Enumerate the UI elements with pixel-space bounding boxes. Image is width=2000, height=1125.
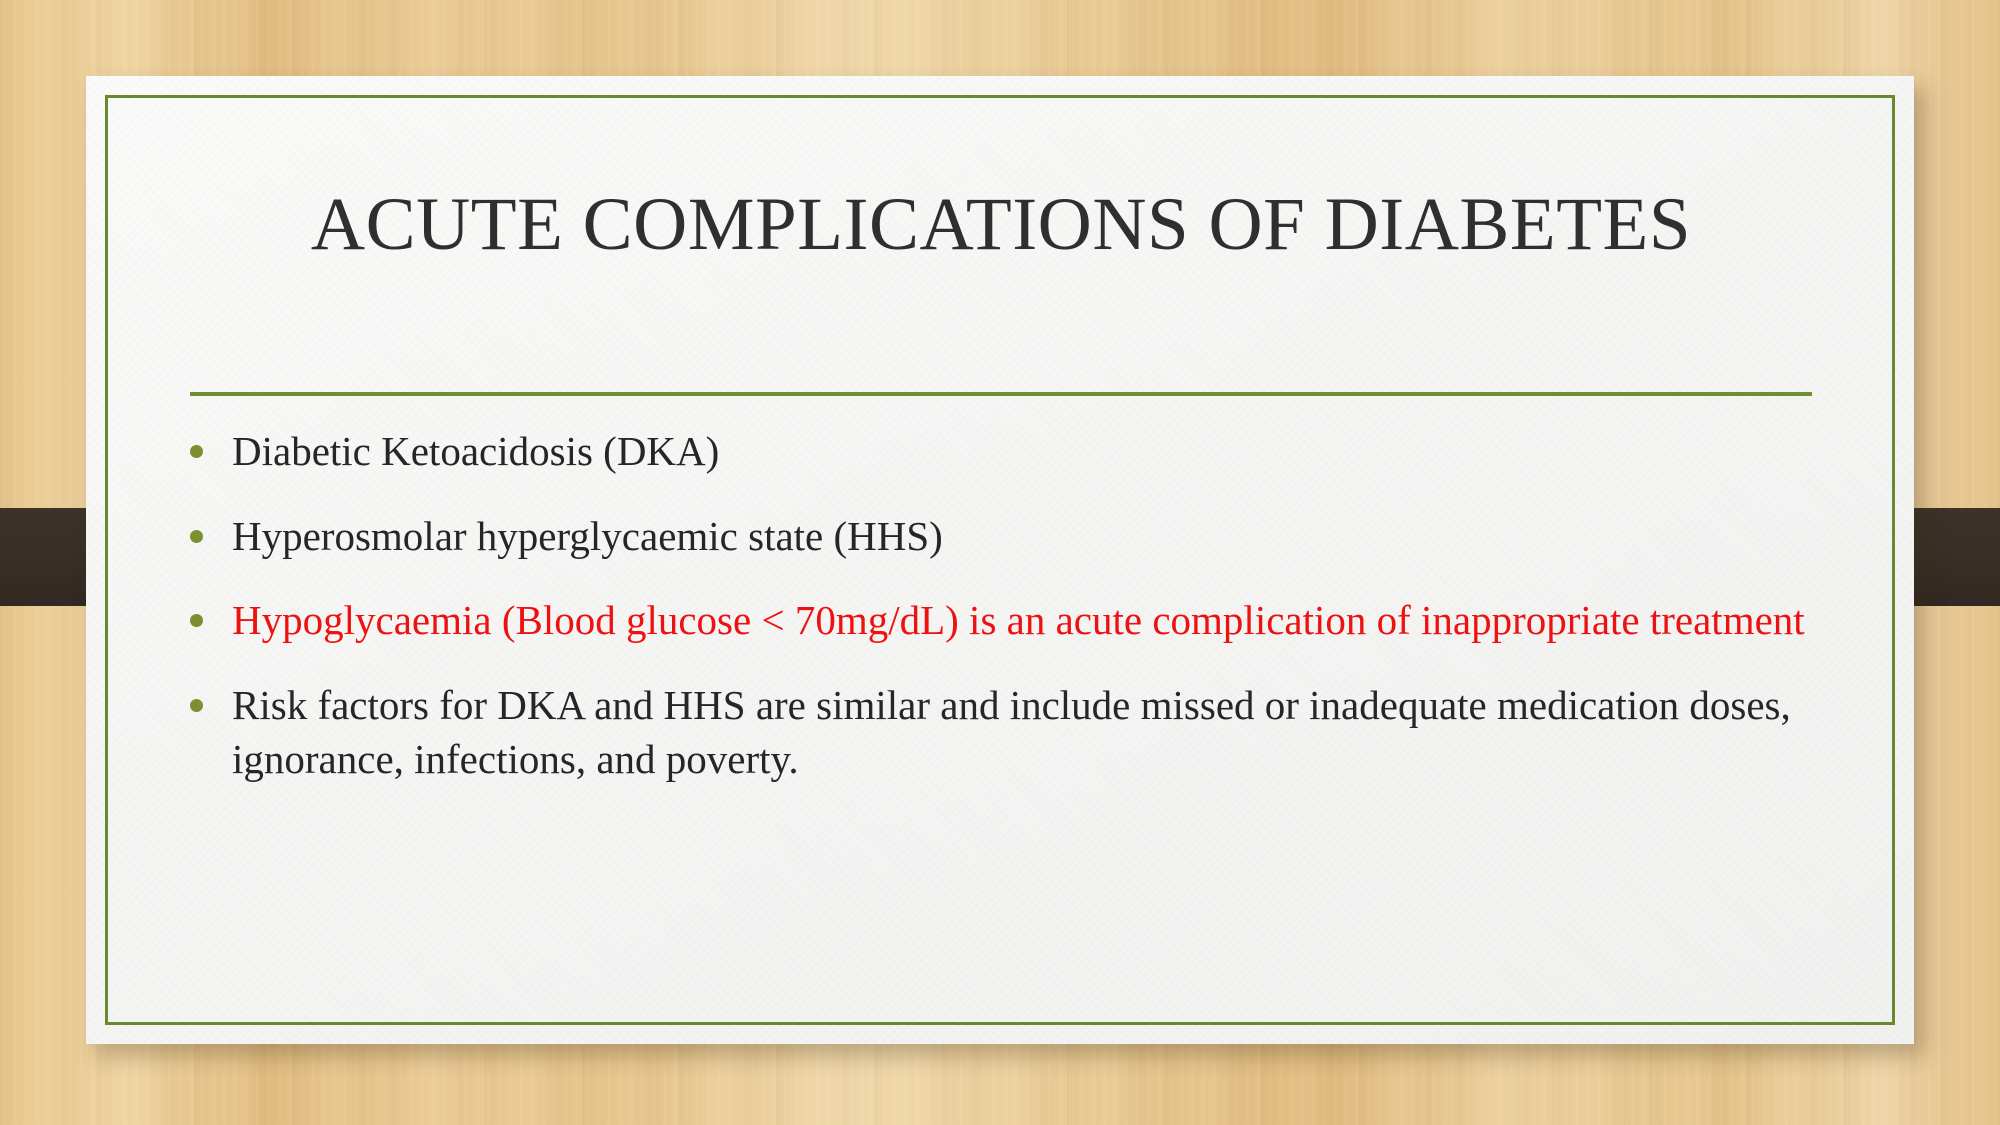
slide-card: ACUTE COMPLICATIONS OF DIABETES Diabetic… (86, 76, 1914, 1044)
slide-stage: ACUTE COMPLICATIONS OF DIABETES Diabetic… (0, 0, 2000, 1125)
title-divider (190, 392, 1812, 396)
bullet-dot-icon (190, 530, 203, 543)
list-item-text: Hyperosmolar hyperglycaemic state (HHS) (232, 513, 943, 559)
list-item-highlighted: Hypoglycaemia (Blood glucose < 70mg/dL) … (178, 593, 1818, 648)
bullet-list: Diabetic Ketoacidosis (DKA) Hyperosmolar… (178, 424, 1818, 787)
list-item-text: Risk factors for DKA and HHS are similar… (232, 682, 1791, 783)
title-block: ACUTE COMPLICATIONS OF DIABETES (196, 186, 1806, 264)
bullet-dot-icon (190, 614, 203, 627)
list-item-text: Hypoglycaemia (Blood glucose < 70mg/dL) … (232, 597, 1805, 643)
list-item-text: Diabetic Ketoacidosis (DKA) (232, 428, 719, 474)
list-item: Hyperosmolar hyperglycaemic state (HHS) (178, 509, 1818, 564)
list-item: Diabetic Ketoacidosis (DKA) (178, 424, 1818, 479)
page-title: ACUTE COMPLICATIONS OF DIABETES (196, 186, 1806, 264)
list-item: Risk factors for DKA and HHS are similar… (178, 678, 1818, 787)
bullet-dot-icon (190, 699, 203, 712)
bullet-dot-icon (190, 445, 203, 458)
